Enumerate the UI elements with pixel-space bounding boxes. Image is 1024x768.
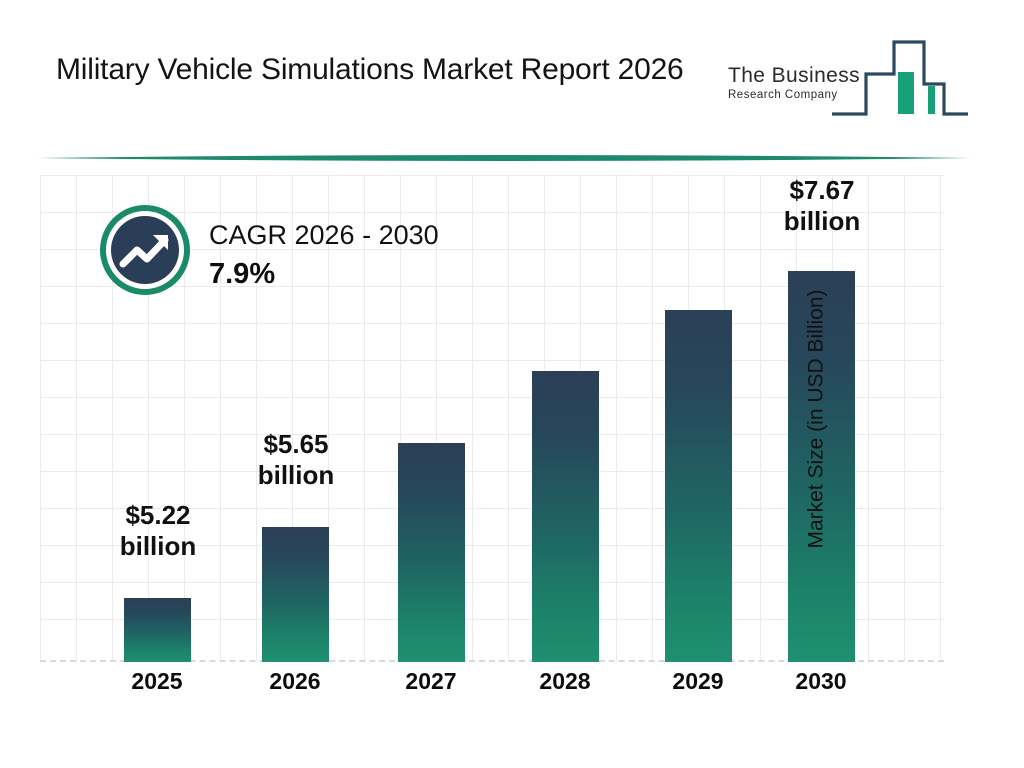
section-divider <box>38 152 970 164</box>
bar-label-2030-unit: billion <box>762 206 882 237</box>
bar-2029[interactable] <box>665 310 732 662</box>
bar-label-2030: $7.67 billion <box>762 175 882 236</box>
cagr-value-label: 7.9% <box>209 258 275 291</box>
bar-label-2030-value: $7.67 <box>762 175 882 206</box>
bar-chart-outline-logo-mark <box>832 36 968 126</box>
x-tick-2025: 2025 <box>97 668 217 695</box>
cagr-range-label: CAGR 2026 - 2030 <box>209 220 439 251</box>
x-tick-2029: 2029 <box>638 668 758 695</box>
bar-label-2026: $5.65 billion <box>236 429 356 490</box>
trending-up-arrow-icon <box>97 202 193 298</box>
y-axis-title: Market Size (in USD Billion) <box>804 289 828 548</box>
bar-2028[interactable] <box>532 371 599 662</box>
x-tick-2030: 2030 <box>761 668 881 695</box>
cagr-badge: CAGR 2026 - 2030 7.9% <box>97 202 517 302</box>
bar-2027[interactable] <box>398 443 465 662</box>
bar-label-2026-value: $5.65 <box>236 429 356 460</box>
header: Military Vehicle Simulations Market Repo… <box>0 0 1024 160</box>
company-logo: The Business Research Company <box>728 36 968 132</box>
bar-label-2025: $5.22 billion <box>98 500 218 561</box>
slide-canvas: Military Vehicle Simulations Market Repo… <box>0 0 1024 768</box>
x-axis: 2025 2026 2027 2028 2029 2030 <box>40 668 944 708</box>
page-title: Military Vehicle Simulations Market Repo… <box>56 48 736 92</box>
x-tick-2027: 2027 <box>371 668 491 695</box>
bar-label-2026-unit: billion <box>236 460 356 491</box>
x-tick-2028: 2028 <box>505 668 625 695</box>
bar-label-2025-value: $5.22 <box>98 500 218 531</box>
bar-2025[interactable] <box>124 598 191 662</box>
bar-2026[interactable] <box>262 527 329 662</box>
x-tick-2026: 2026 <box>235 668 355 695</box>
bar-label-2025-unit: billion <box>98 531 218 562</box>
